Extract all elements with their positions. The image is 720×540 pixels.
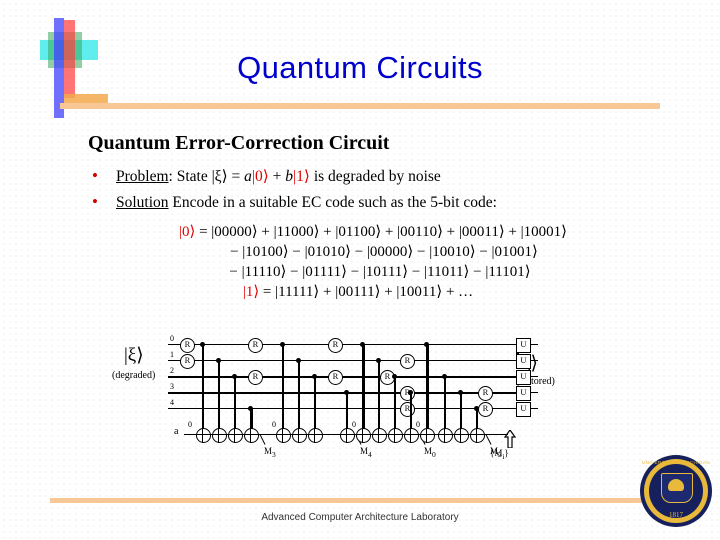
- gate-r[interactable]: R: [180, 354, 195, 369]
- xor-gate[interactable]: [356, 428, 371, 443]
- xor-gate[interactable]: [340, 428, 355, 443]
- seal-lamp-icon: [668, 479, 684, 491]
- xor-gate[interactable]: [228, 428, 243, 443]
- gate-r[interactable]: R: [478, 402, 493, 417]
- quantum-circuit-diagram: |ξ⟩ (degraded) ξ⟩ (restored) 0 1 2 3 4 a…: [112, 330, 612, 470]
- ancilla-label: a: [174, 426, 178, 437]
- xor-gate[interactable]: [308, 428, 323, 443]
- bullet-problem-label: Problem: [116, 168, 169, 185]
- xor-gate[interactable]: [388, 428, 403, 443]
- up-arrow-icon: [504, 430, 516, 448]
- xor-gate[interactable]: [212, 428, 227, 443]
- wire-out-2: [530, 376, 538, 377]
- control-link: [394, 376, 396, 434]
- measurement-tick-icon: [486, 434, 492, 444]
- xor-gate[interactable]: [454, 428, 469, 443]
- wire-stub-0: [508, 344, 516, 345]
- xor-gate[interactable]: [404, 428, 419, 443]
- bullet-problem-var-b: b: [285, 168, 293, 185]
- code-line-4-head: |1⟩: [243, 284, 259, 300]
- gate-r[interactable]: R: [328, 370, 343, 385]
- bullet-list: •Problem: State |ξ⟩ = a|0⟩ + b|1⟩ is deg…: [88, 166, 668, 218]
- ancilla-zero-1: 0: [188, 420, 192, 429]
- footer-divider: [50, 498, 670, 503]
- measurement-label: M0: [424, 446, 436, 459]
- gate-u[interactable]: U: [516, 338, 531, 353]
- xor-gate[interactable]: [244, 428, 259, 443]
- gate-r[interactable]: R: [400, 354, 415, 369]
- xor-gate[interactable]: [196, 428, 211, 443]
- bullet-problem-plus: +: [269, 168, 286, 185]
- wire-number-0: 0: [170, 334, 174, 343]
- code-line-1-head: |0⟩: [179, 224, 195, 240]
- gate-r[interactable]: R: [478, 386, 493, 401]
- bullet-dot-icon: •: [92, 191, 98, 213]
- wire-number-1: 1: [170, 350, 174, 359]
- bullet-problem: •Problem: State |ξ⟩ = a|0⟩ + b|1⟩ is deg…: [88, 166, 668, 188]
- code-line-1: |0⟩ = |00000⟩ + |11000⟩ + |01100⟩ + |001…: [88, 222, 658, 242]
- xor-gate[interactable]: [292, 428, 307, 443]
- wire-number-4: 4: [170, 398, 174, 407]
- wire-out-3: [530, 392, 538, 393]
- wire-out-0: [530, 344, 538, 345]
- xor-gate[interactable]: [470, 428, 485, 443]
- xor-gate[interactable]: [438, 428, 453, 443]
- bullet-problem-text-before: : State |ξ⟩ =: [169, 168, 245, 185]
- control-link: [362, 344, 365, 434]
- control-link: [378, 360, 380, 434]
- control-link: [426, 344, 429, 434]
- code-line-2: − |10100⟩ − |01010⟩ − |00000⟩ − |10010⟩ …: [88, 242, 658, 262]
- ancilla-zero-2: 0: [272, 420, 276, 429]
- footer-text: Advanced Computer Architecture Laborator…: [0, 512, 720, 523]
- control-link: [234, 376, 236, 434]
- code-line-4-body: = |11111⟩ + |00111⟩ + |10011⟩ + …: [259, 284, 473, 300]
- bullet-problem-ket1: |1⟩: [293, 168, 310, 185]
- xor-gate[interactable]: [372, 428, 387, 443]
- gate-r[interactable]: R: [180, 338, 195, 353]
- bullet-solution-label: Solution: [116, 194, 169, 211]
- bullet-solution: •Solution Encode in a suitable EC code s…: [88, 192, 668, 214]
- gate-u[interactable]: U: [516, 370, 531, 385]
- control-link: [282, 344, 284, 434]
- measurement-label: M3: [264, 446, 276, 459]
- section-heading: Quantum Error-Correction Circuit: [88, 132, 389, 155]
- seal-top-text: UNIVERSITY OF MICHIGAN: [640, 460, 712, 465]
- bullet-solution-text: Encode in a suitable EC code such as the…: [169, 194, 497, 211]
- university-seal-logo: UNIVERSITY OF MICHIGAN 1817: [640, 455, 712, 527]
- correction-set-label: {Mi}: [490, 448, 509, 461]
- gate-u[interactable]: U: [516, 402, 531, 417]
- ancilla-zero-3: 0: [352, 420, 356, 429]
- code-line-4: |1⟩ = |11111⟩ + |00111⟩ + |10011⟩ + …: [88, 282, 658, 302]
- gate-u[interactable]: U: [516, 354, 531, 369]
- wire-number-3: 3: [170, 382, 174, 391]
- bullet-problem-var-a: a: [244, 168, 252, 185]
- gate-u[interactable]: U: [516, 386, 531, 401]
- circuit-input-label: |ξ⟩: [124, 344, 144, 367]
- control-link: [444, 376, 446, 434]
- bullet-problem-ket0: |0⟩: [252, 168, 269, 185]
- xor-gate[interactable]: [276, 428, 291, 443]
- control-link: [202, 344, 204, 434]
- wire-stub-1: [508, 360, 516, 361]
- gate-r[interactable]: R: [248, 338, 263, 353]
- measurement-tick-icon: [260, 434, 266, 444]
- page-title: Quantum Circuits: [0, 50, 720, 86]
- xor-gate[interactable]: [420, 428, 435, 443]
- control-link: [298, 360, 300, 434]
- control-link: [218, 360, 220, 434]
- wire-out-1: [530, 360, 538, 361]
- wire-stub-4: [508, 408, 516, 409]
- title-divider: [60, 103, 660, 109]
- code-line-1-body: = |00000⟩ + |11000⟩ + |01100⟩ + |00110⟩ …: [195, 224, 567, 240]
- ancilla-zero-4: 0: [416, 420, 420, 429]
- code-line-3: − |11110⟩ − |01111⟩ − |10111⟩ − |11011⟩ …: [88, 262, 658, 282]
- slide-canvas: Quantum Circuits Quantum Error-Correctio…: [0, 0, 720, 540]
- wire-stub-3: [508, 392, 516, 394]
- bullet-problem-text-after: is degraded by noise: [310, 168, 441, 185]
- bullet-dot-icon: •: [92, 165, 98, 187]
- control-link: [314, 376, 316, 434]
- gate-r[interactable]: R: [248, 370, 263, 385]
- wire-number-2: 2: [170, 366, 174, 375]
- gate-r[interactable]: R: [328, 338, 343, 353]
- seal-year-text: 1817: [640, 511, 712, 519]
- gate-r[interactable]: R: [400, 402, 415, 417]
- circuit-input-sublabel: (degraded): [112, 370, 155, 381]
- code-block: |0⟩ = |00000⟩ + |11000⟩ + |01100⟩ + |001…: [88, 222, 658, 302]
- wire-stub-2: [508, 376, 516, 378]
- wire-out-4: [530, 408, 538, 409]
- measurement-label: M4: [360, 446, 372, 459]
